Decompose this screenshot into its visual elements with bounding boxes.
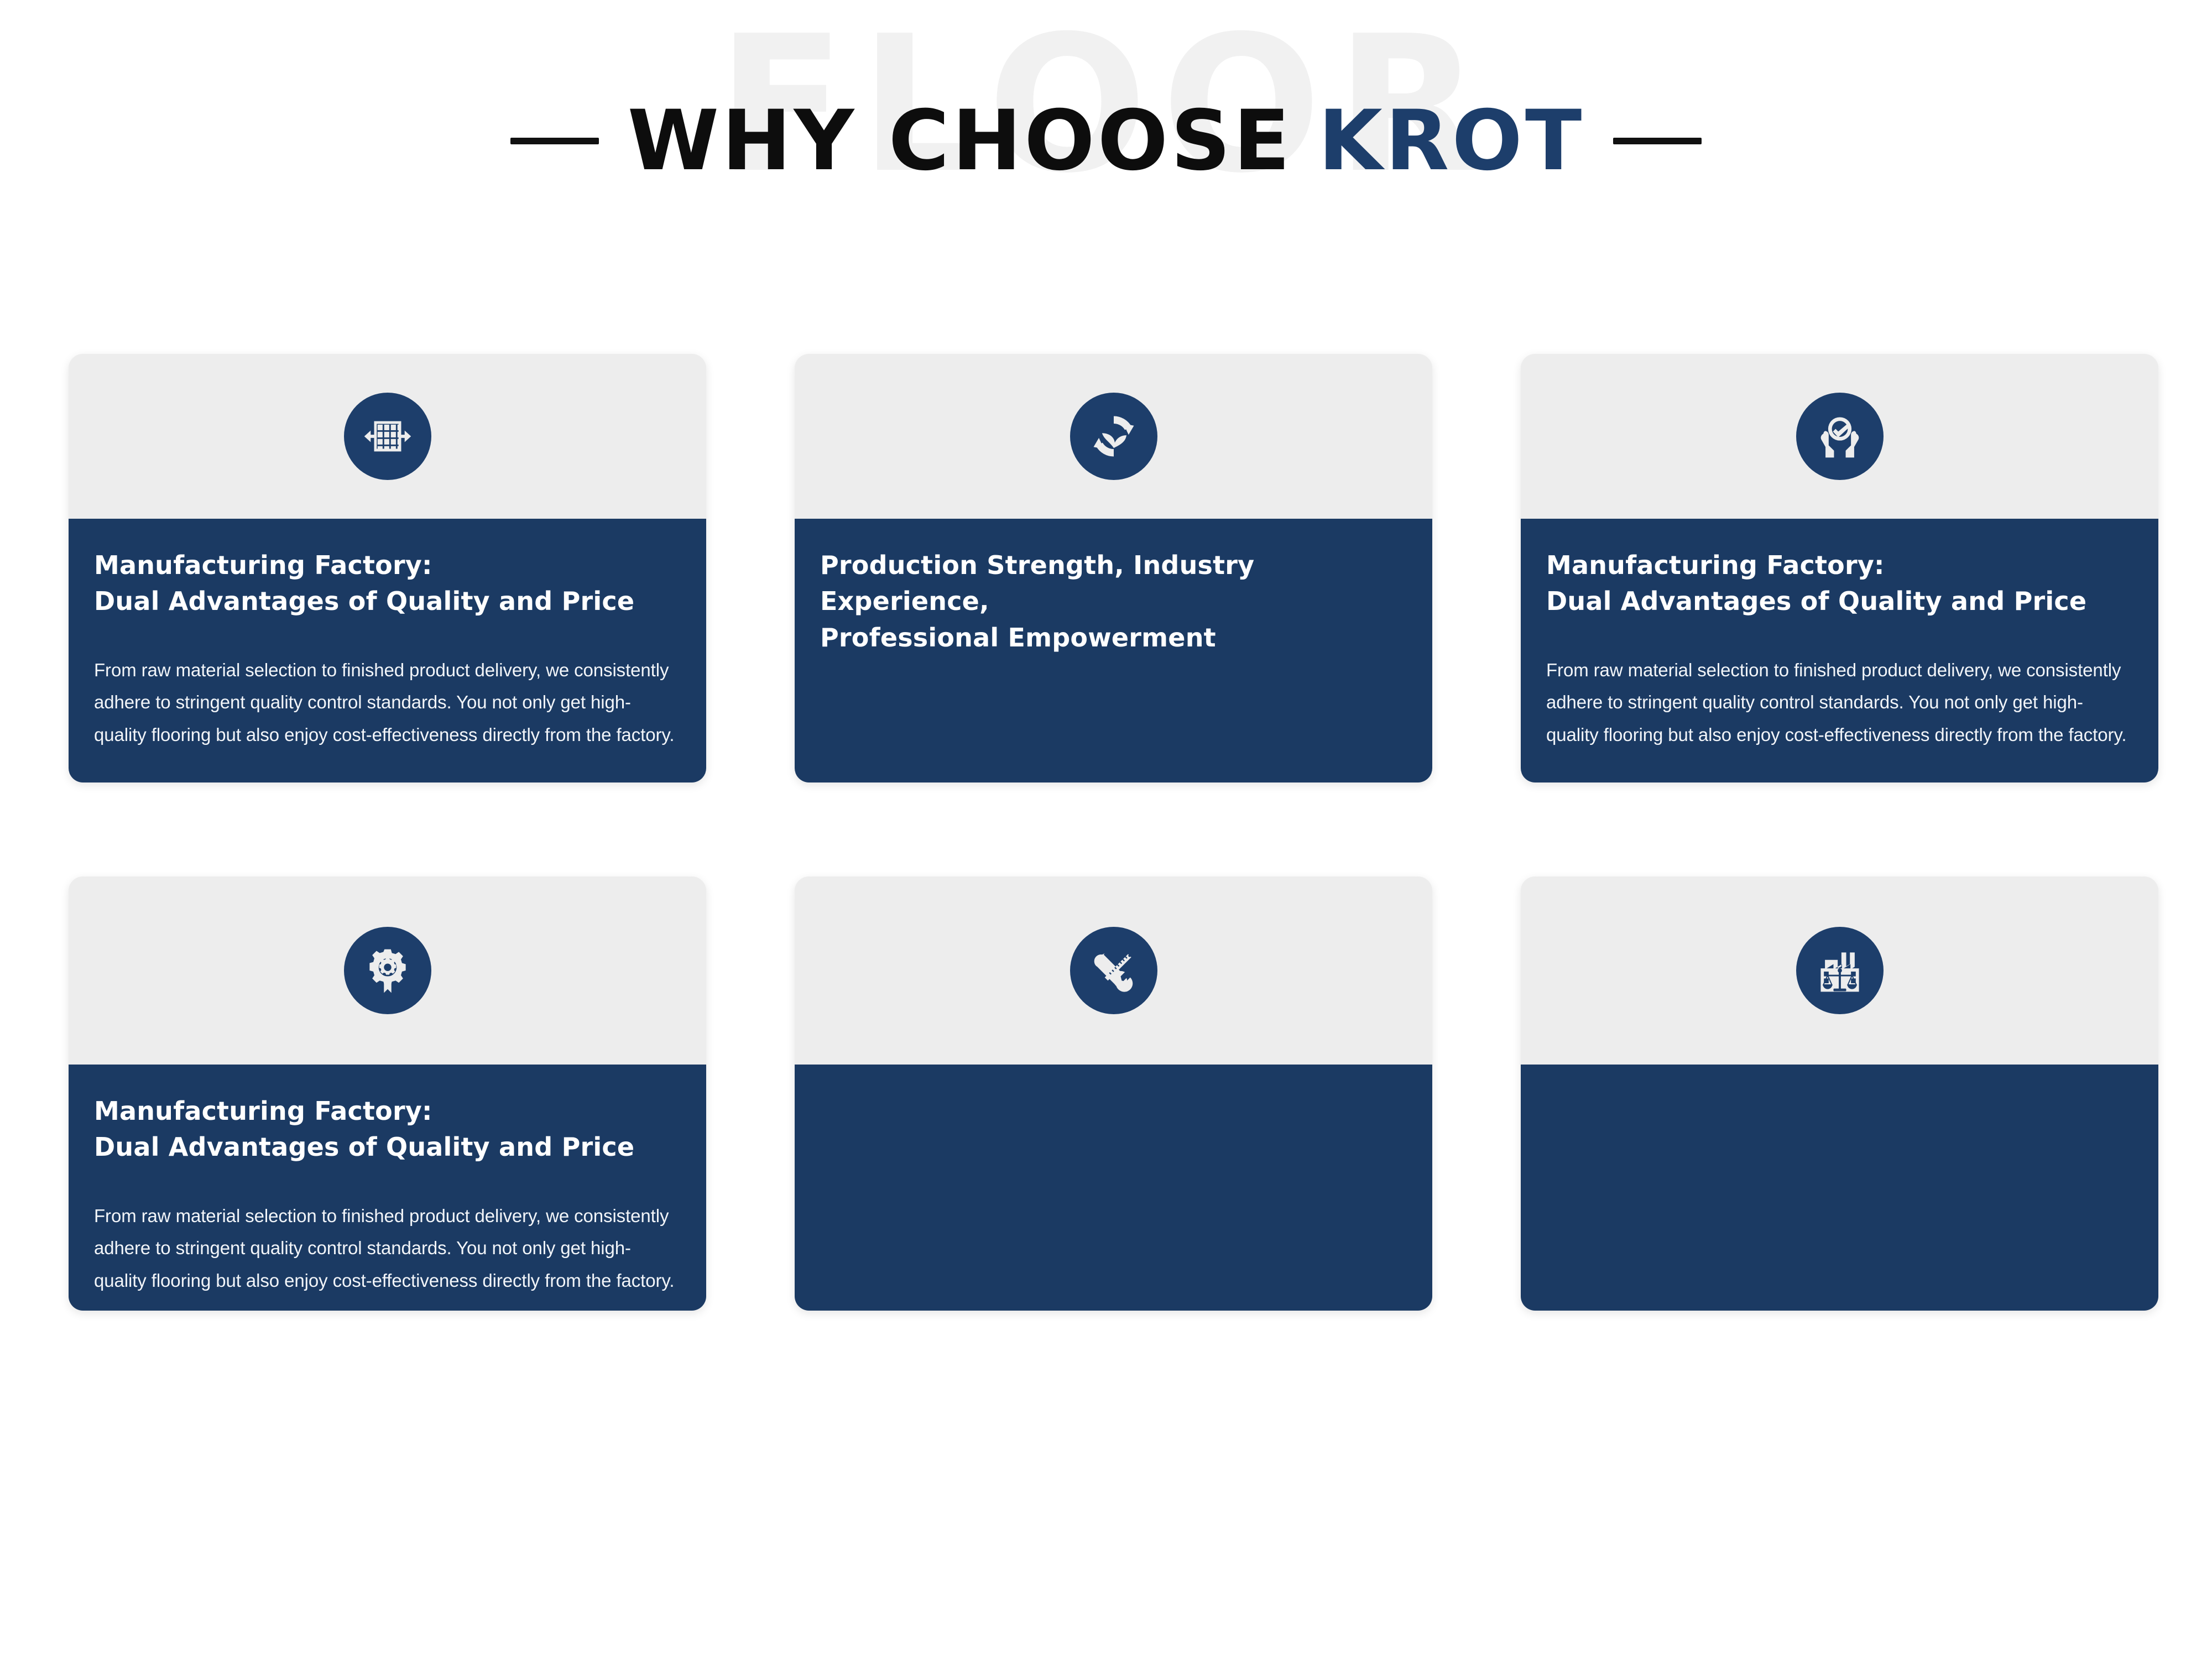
card-description: From raw material selection to finished … — [94, 1200, 681, 1297]
page-title-accent: KROT — [1318, 93, 1585, 189]
page-header: FLOOR WHY CHOOSEKROT — [0, 0, 2212, 288]
card-title: Production Strength, Industry Experience… — [820, 547, 1407, 656]
gear-ribbon-award-icon — [344, 927, 431, 1014]
feature-card[interactable]: Manufacturing Factory: Dual Advantages o… — [1521, 354, 2158, 782]
card-body: Manufacturing Factory: Dual Advantages o… — [1521, 519, 2158, 782]
card-body — [1521, 1065, 2158, 1311]
card-title: Manufacturing Factory: Dual Advantages o… — [94, 1093, 681, 1166]
card-icon-area — [1521, 877, 2158, 1065]
wrench-ruler-icon — [1070, 927, 1157, 1014]
card-icon-area — [1521, 354, 2158, 519]
card-icon-area — [69, 877, 706, 1065]
feature-card[interactable] — [795, 877, 1432, 1311]
factory-scales-icon — [1796, 927, 1884, 1014]
card-body: Manufacturing Factory: Dual Advantages o… — [69, 1065, 706, 1311]
feature-card[interactable]: Manufacturing Factory: Dual Advantages o… — [69, 877, 706, 1311]
page-root: FLOOR WHY CHOOSEKROT — [0, 0, 2212, 1659]
hands-check-icon — [1796, 393, 1884, 480]
card-icon-area — [69, 354, 706, 519]
card-icon-area — [795, 354, 1432, 519]
page-title-prefix: WHY CHOOSE — [628, 93, 1293, 189]
card-title: Manufacturing Factory: Dual Advantages o… — [1546, 547, 2133, 620]
card-body — [795, 1065, 1432, 1311]
card-body: Production Strength, Industry Experience… — [795, 519, 1432, 782]
feature-card[interactable] — [1521, 877, 2158, 1311]
grid-expand-icon — [344, 393, 431, 480]
feature-card[interactable]: Production Strength, Industry Experience… — [795, 354, 1432, 782]
recycle-leaf-icon — [1070, 393, 1157, 480]
title-dash-right — [1613, 138, 1702, 144]
feature-card-grid: Manufacturing Factory: Dual Advantages o… — [69, 354, 2137, 1311]
card-title: Manufacturing Factory: Dual Advantages o… — [94, 547, 681, 620]
page-title: WHY CHOOSEKROT — [628, 100, 1585, 182]
card-icon-area — [795, 877, 1432, 1065]
page-title-row: WHY CHOOSEKROT — [0, 100, 2212, 182]
card-description: From raw material selection to finished … — [94, 654, 681, 752]
card-body: Manufacturing Factory: Dual Advantages o… — [69, 519, 706, 782]
title-dash-left — [510, 138, 599, 144]
feature-card[interactable]: Manufacturing Factory: Dual Advantages o… — [69, 354, 706, 782]
card-description: From raw material selection to finished … — [1546, 654, 2133, 752]
